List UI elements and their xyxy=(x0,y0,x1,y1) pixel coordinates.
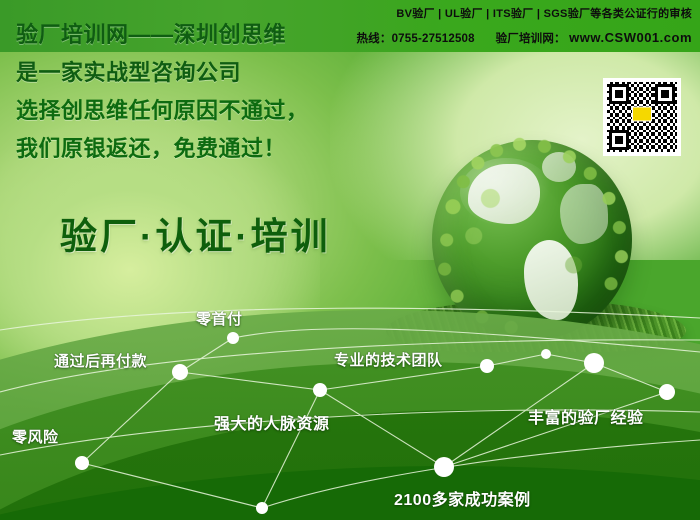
network-label-6: 2100多家成功案例 xyxy=(394,486,531,510)
headline-line-4: 我们原银返还，免费通过！ xyxy=(16,130,384,168)
qr-finder-bottom-left xyxy=(609,130,629,150)
qr-code[interactable] xyxy=(603,78,681,156)
headline-line-1: 验厂培训网——深圳创思维 xyxy=(16,16,384,54)
qr-center-logo xyxy=(632,107,652,122)
network-label-2: 零风险 xyxy=(12,426,59,447)
site-label: 验厂培训网： xyxy=(496,33,566,45)
qr-code-image xyxy=(607,82,677,152)
qr-finder-top-right xyxy=(655,84,675,104)
headline-block: 验厂培训网——深圳创思维 是一家实战型咨询公司 选择创思维任何原因不通过， 我们… xyxy=(16,16,384,168)
network-label-3: 专业的技术团队 xyxy=(334,349,443,370)
qr-finder-top-left xyxy=(609,84,629,104)
promo-banner: BV验厂 | UL验厂 | ITS验厂 | SGS验厂等各类公证行的审核 热线：… xyxy=(0,0,700,520)
header-contact-line: 热线：0755-27512508 验厂培训网： www.CSW001.com xyxy=(356,30,692,46)
network-label-4: 强大的人脉资源 xyxy=(214,410,330,434)
website-url[interactable]: www.CSW001.com xyxy=(569,30,692,45)
certification-list: BV验厂 | UL验厂 | ITS验厂 | SGS验厂等各类公证行的审核 xyxy=(396,5,692,21)
headline-line-3: 选择创思维任何原因不通过， xyxy=(16,92,384,130)
headline-line-2: 是一家实战型咨询公司 xyxy=(16,54,384,92)
main-slogan: 验厂·认证·培训 xyxy=(60,206,331,260)
network-label-1: 通过后再付款 xyxy=(54,350,147,371)
network-label-0: 零首付 xyxy=(196,308,243,329)
network-label-5: 丰富的验厂经验 xyxy=(528,404,644,428)
